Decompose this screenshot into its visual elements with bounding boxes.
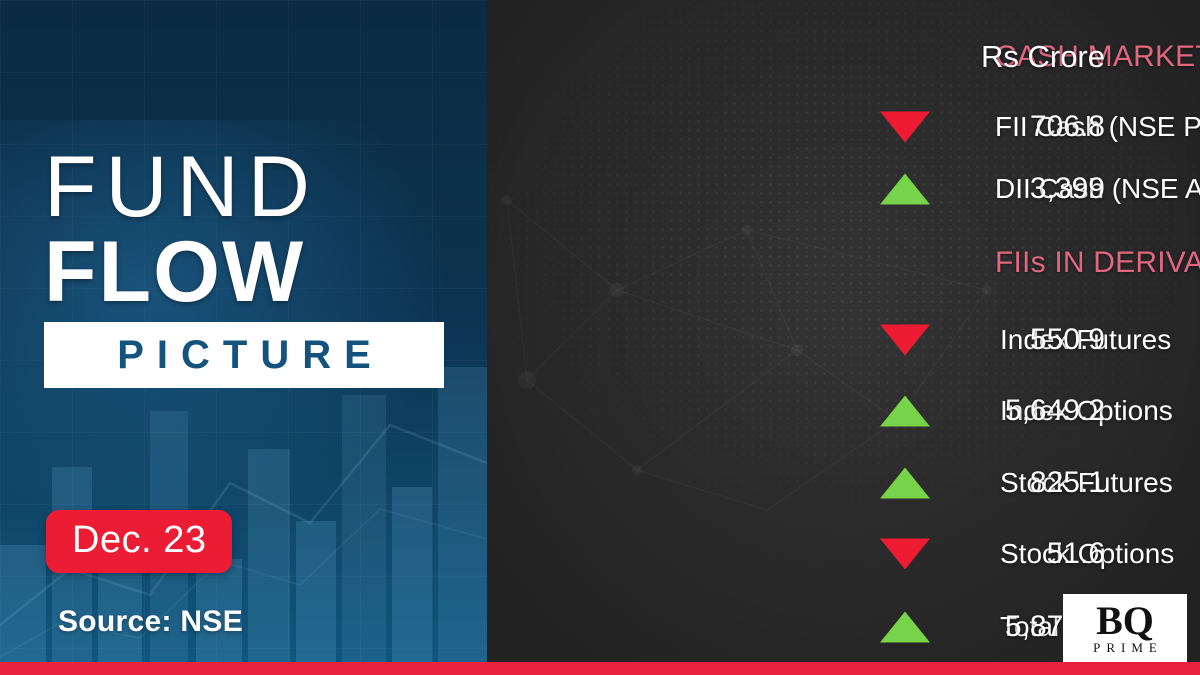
brand-title-block: FUND FLOW PICTURE <box>44 146 464 388</box>
table-row: Index Futures 550.9 <box>487 318 1200 362</box>
row-value: 5,649.2 <box>1005 394 1105 428</box>
date-badge: Dec. 23 <box>46 510 232 573</box>
arrow-down-icon <box>880 325 930 356</box>
section-heading-row: FIIs IN DERIVATIVES <box>487 241 1200 285</box>
bq-prime-logo: BQ PRIME <box>1063 594 1187 663</box>
source-label: Source: NSE <box>58 605 243 639</box>
brand-word-fund: FUND <box>44 146 464 229</box>
arrow-up-icon <box>880 468 930 499</box>
arrow-up-icon <box>880 612 930 643</box>
infographic-canvas: FUND FLOW PICTURE Dec. 23 Source: NSE <box>0 0 1200 675</box>
table-row: Stock Futures 825.1 <box>487 461 1200 505</box>
bottom-accent-stripe <box>0 662 1200 675</box>
brand-picture-banner: PICTURE <box>44 322 444 388</box>
fund-flow-table: CASH MARKET Rs Crore FII Cash (NSE Provi… <box>487 0 1200 675</box>
table-row: Index Options 5,649.2 <box>487 389 1200 433</box>
unit-header: Rs Crore <box>981 39 1105 75</box>
section-heading-fiis-in-derivatives: FIIs IN DERIVATIVES <box>995 246 1200 280</box>
row-value: 3,399 <box>1030 172 1105 206</box>
logo-mark-bq: BQ <box>1096 603 1154 640</box>
arrow-down-icon <box>880 539 930 570</box>
logo-sub-prime: PRIME <box>1087 640 1163 656</box>
row-value: 706.8 <box>1030 110 1105 144</box>
date-badge-label: Dec. 23 <box>72 519 206 561</box>
arrow-up-icon <box>880 396 930 427</box>
branding-panel: FUND FLOW PICTURE Dec. 23 Source: NSE <box>0 0 487 675</box>
row-value: 550.9 <box>1030 323 1105 357</box>
table-row: Stock Options 51.6 <box>487 532 1200 576</box>
arrow-up-icon <box>880 174 930 205</box>
table-row: DII Cash (NSE Actual) 3,399 <box>487 167 1200 211</box>
arrow-down-icon <box>880 112 930 143</box>
table-row: FII Cash (NSE Provisional) 706.8 <box>487 105 1200 149</box>
data-panel: CASH MARKET Rs Crore FII Cash (NSE Provi… <box>487 0 1200 675</box>
row-value: 825.1 <box>1030 466 1105 500</box>
row-value: 51.6 <box>1047 537 1105 571</box>
brand-word-picture: PICTURE <box>104 333 384 378</box>
table-header-row: CASH MARKET Rs Crore <box>487 35 1200 79</box>
brand-word-flow: FLOW <box>44 229 464 317</box>
